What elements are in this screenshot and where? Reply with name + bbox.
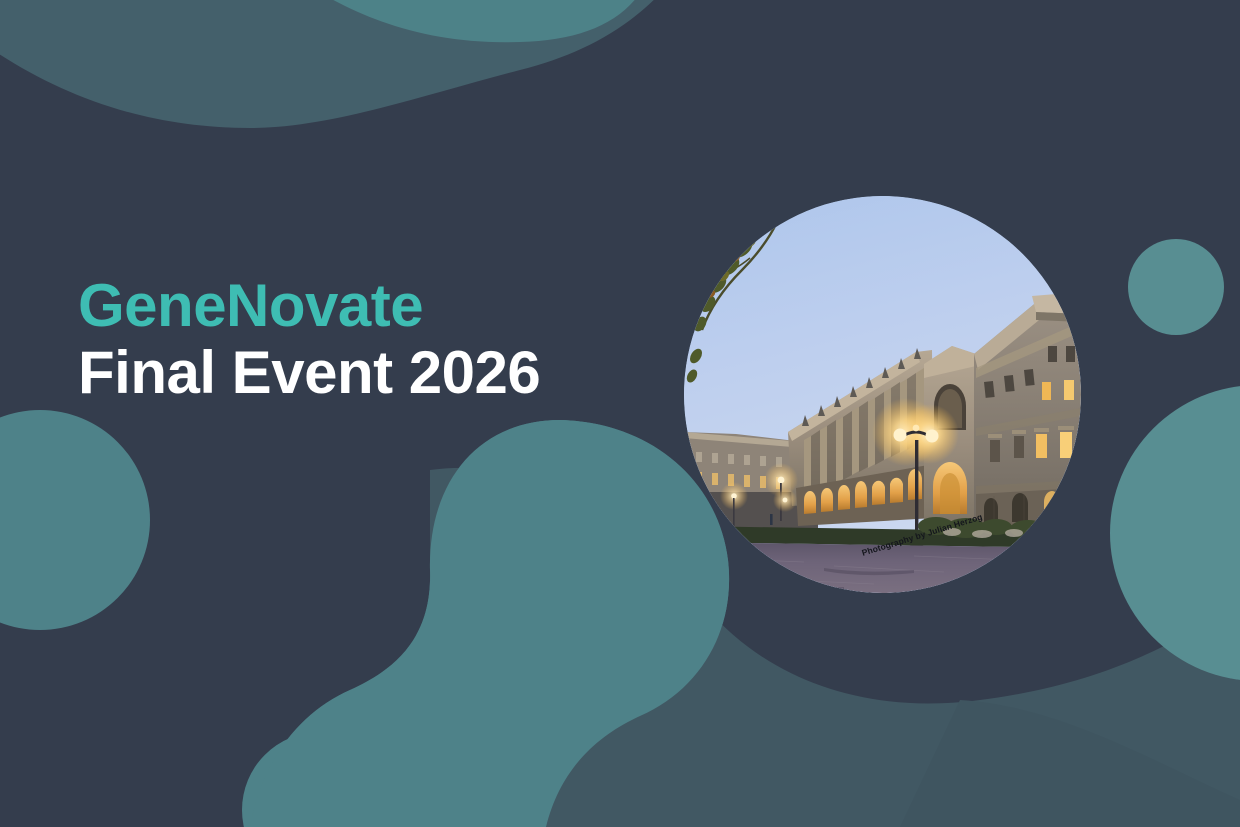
presentation-slide: Photography by Julian Herzog GeneNovate … [0,0,1240,827]
blob-right-small [1128,239,1224,335]
title-block: GeneNovate Final Event 2026 [78,272,540,406]
palace-at-dusk-illustration [684,196,1081,593]
brand-title: GeneNovate [78,272,540,339]
pedestrian [770,514,773,525]
event-title: Final Event 2026 [78,339,540,406]
event-photo-circle: Photography by Julian Herzog [684,196,1081,593]
